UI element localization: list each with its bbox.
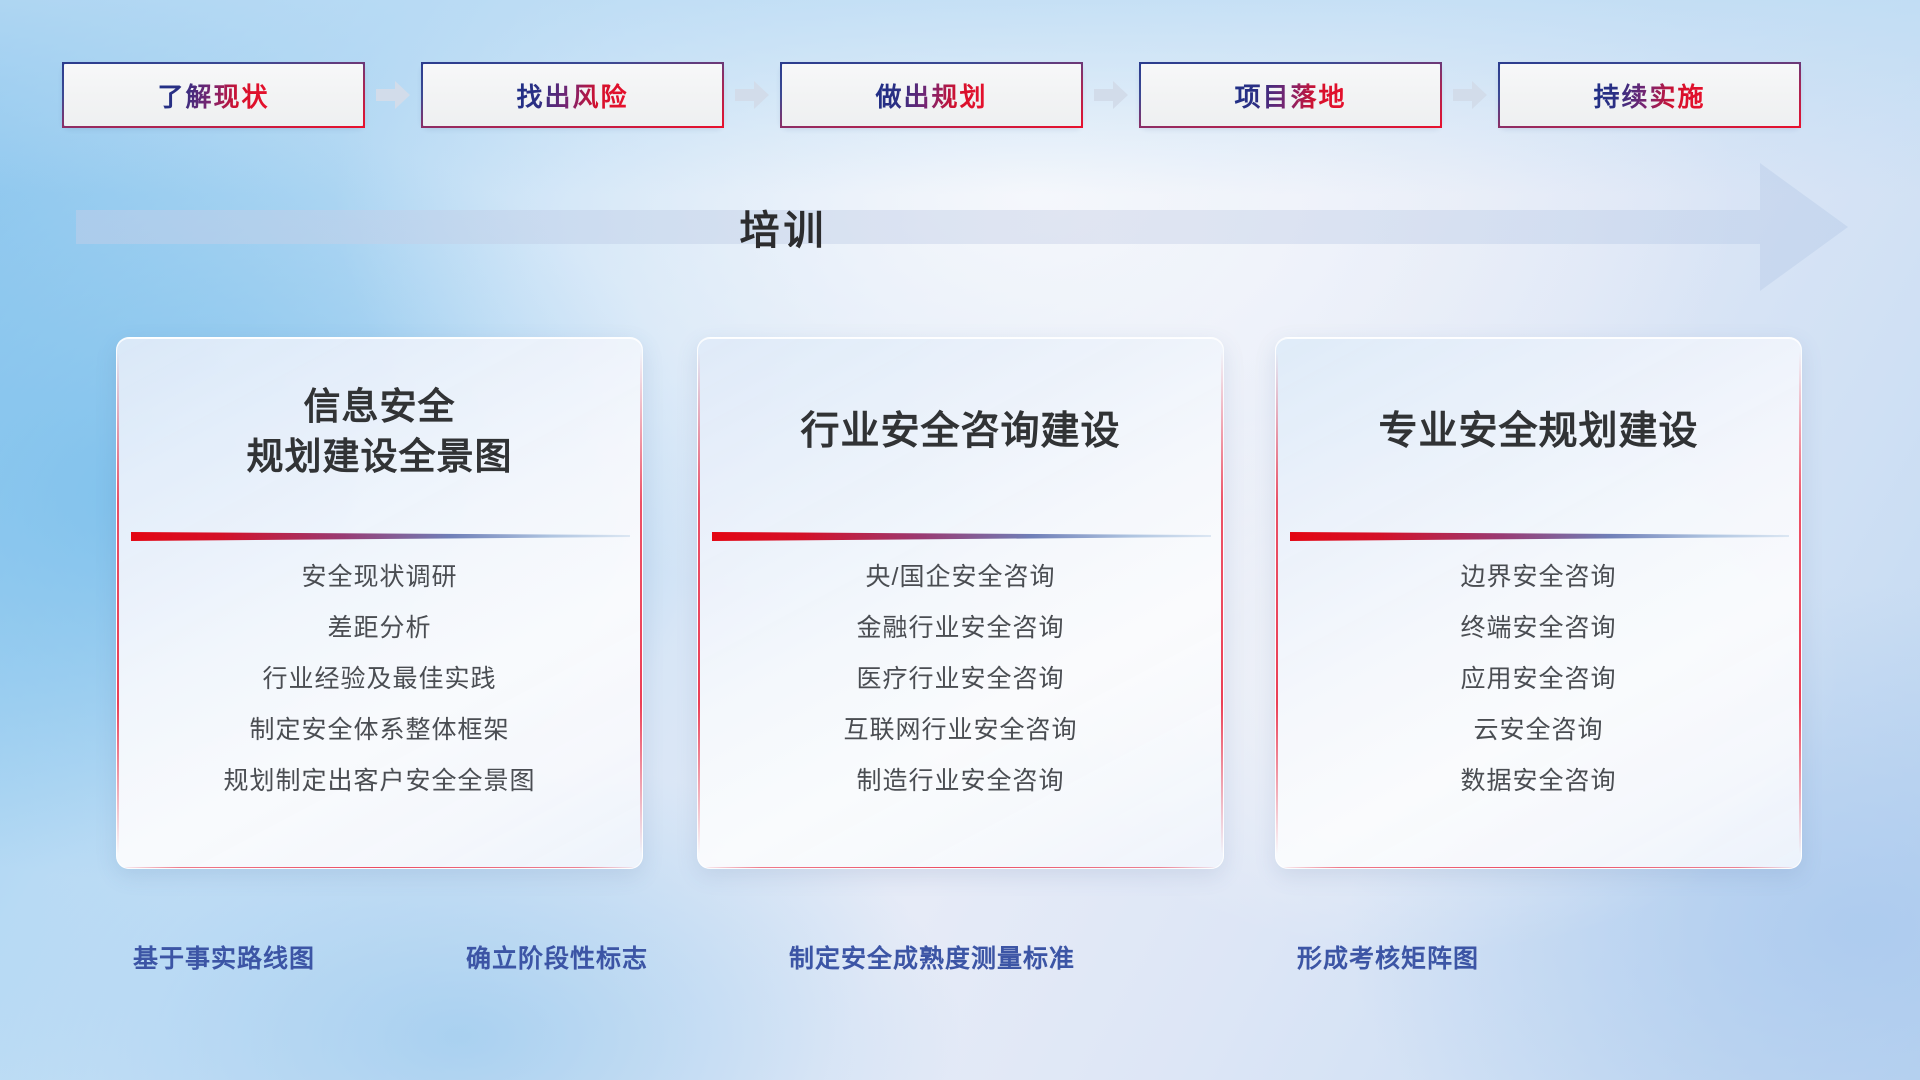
list-item: 医疗行业安全咨询 [856,662,1064,696]
training-banner: 培训 [76,163,1848,291]
card-title-line-1: 专业安全规划建设 [1378,406,1698,458]
footer-label-row: 基于事实路线图 确立阶段性标志 制定安全成熟度测量标准 形成考核矩阵图 [0,935,1920,979]
card-title: 行业安全咨询建设 [698,338,1223,526]
list-item: 规划制定出客户安全全景图 [223,764,535,798]
list-item: 边界安全咨询 [1460,560,1616,594]
card-title: 专业安全规划建设 [1276,338,1801,526]
card-security-panorama[interactable]: 信息安全 规划建设全景图 安全现状调研 差 [116,337,643,869]
list-item: 互联网行业安全咨询 [843,713,1077,747]
card-industry-consulting[interactable]: 行业安全咨询建设 央/国企安全咨询 金融行业安全咨询 [697,337,1224,869]
chevron-right-arrow-icon [376,81,410,109]
step-label-1: 了解现状 [157,77,269,114]
list-item: 应用安全咨询 [1460,662,1616,696]
card-divider [131,528,628,544]
chevron-right-arrow-icon [1094,81,1128,109]
card-divider [1290,528,1787,544]
step-box-5[interactable]: 持续实施 [1498,62,1801,128]
process-step-row: 了解现状 找出风险 做出规划 项目落地 [0,62,1920,128]
card-title-line-1: 行业安全咨询建设 [800,406,1120,458]
card-professional-planning[interactable]: 专业安全规划建设 边界安全咨询 终端安全咨询 [1275,337,1802,869]
card-title-line-1: 信息安全 [304,382,456,432]
step-wrap-3: 做出规划 [780,62,1139,128]
card-title: 信息安全 规划建设全景图 [117,338,642,526]
list-item: 差距分析 [327,611,431,645]
list-item: 安全现状调研 [301,560,457,594]
step-label-4: 项目落地 [1234,77,1346,114]
list-item: 行业经验及最佳实践 [262,662,496,696]
step-label-2: 找出风险 [516,77,628,114]
step-box-1[interactable]: 了解现状 [62,62,365,128]
card-divider [712,528,1209,544]
list-item: 制定安全体系整体框架 [249,713,509,747]
step-label-5: 持续实施 [1593,77,1705,114]
step-box-4[interactable]: 项目落地 [1139,62,1442,128]
step-label-3: 做出规划 [875,77,987,114]
step-box-3[interactable]: 做出规划 [780,62,1083,128]
step-wrap-2: 找出风险 [421,62,780,128]
list-item: 金融行业安全咨询 [856,611,1064,645]
chevron-right-arrow-icon [1453,81,1487,109]
footer-label-roadmap: 基于事实路线图 [133,935,315,979]
chevron-right-arrow-icon [735,81,769,109]
step-wrap-1: 了解现状 [62,62,421,128]
banner-label: 培训 [76,163,1491,291]
card-title-line-2: 规划建设全景图 [247,432,513,482]
step-box-2[interactable]: 找出风险 [421,62,724,128]
list-item: 数据安全咨询 [1460,764,1616,798]
card-list: 边界安全咨询 终端安全咨询 应用安全咨询 云安全咨询 数据安全咨询 [1276,560,1801,815]
card-row: 信息安全 规划建设全景图 安全现状调研 差 [0,337,1920,869]
step-wrap-4: 项目落地 [1139,62,1498,128]
footer-label-maturity: 制定安全成熟度测量标准 [789,935,1075,979]
card-list: 央/国企安全咨询 金融行业安全咨询 医疗行业安全咨询 互联网行业安全咨询 制造行… [698,560,1223,815]
footer-label-milestones: 确立阶段性标志 [466,935,648,979]
footer-label-matrix: 形成考核矩阵图 [1297,935,1479,979]
list-item: 制造行业安全咨询 [856,764,1064,798]
step-wrap-5: 持续实施 [1498,62,1801,128]
list-item: 终端安全咨询 [1460,611,1616,645]
list-item: 央/国企安全咨询 [866,560,1056,594]
list-item: 云安全咨询 [1473,713,1603,747]
card-list: 安全现状调研 差距分析 行业经验及最佳实践 制定安全体系整体框架 规划制定出客户… [117,560,642,815]
